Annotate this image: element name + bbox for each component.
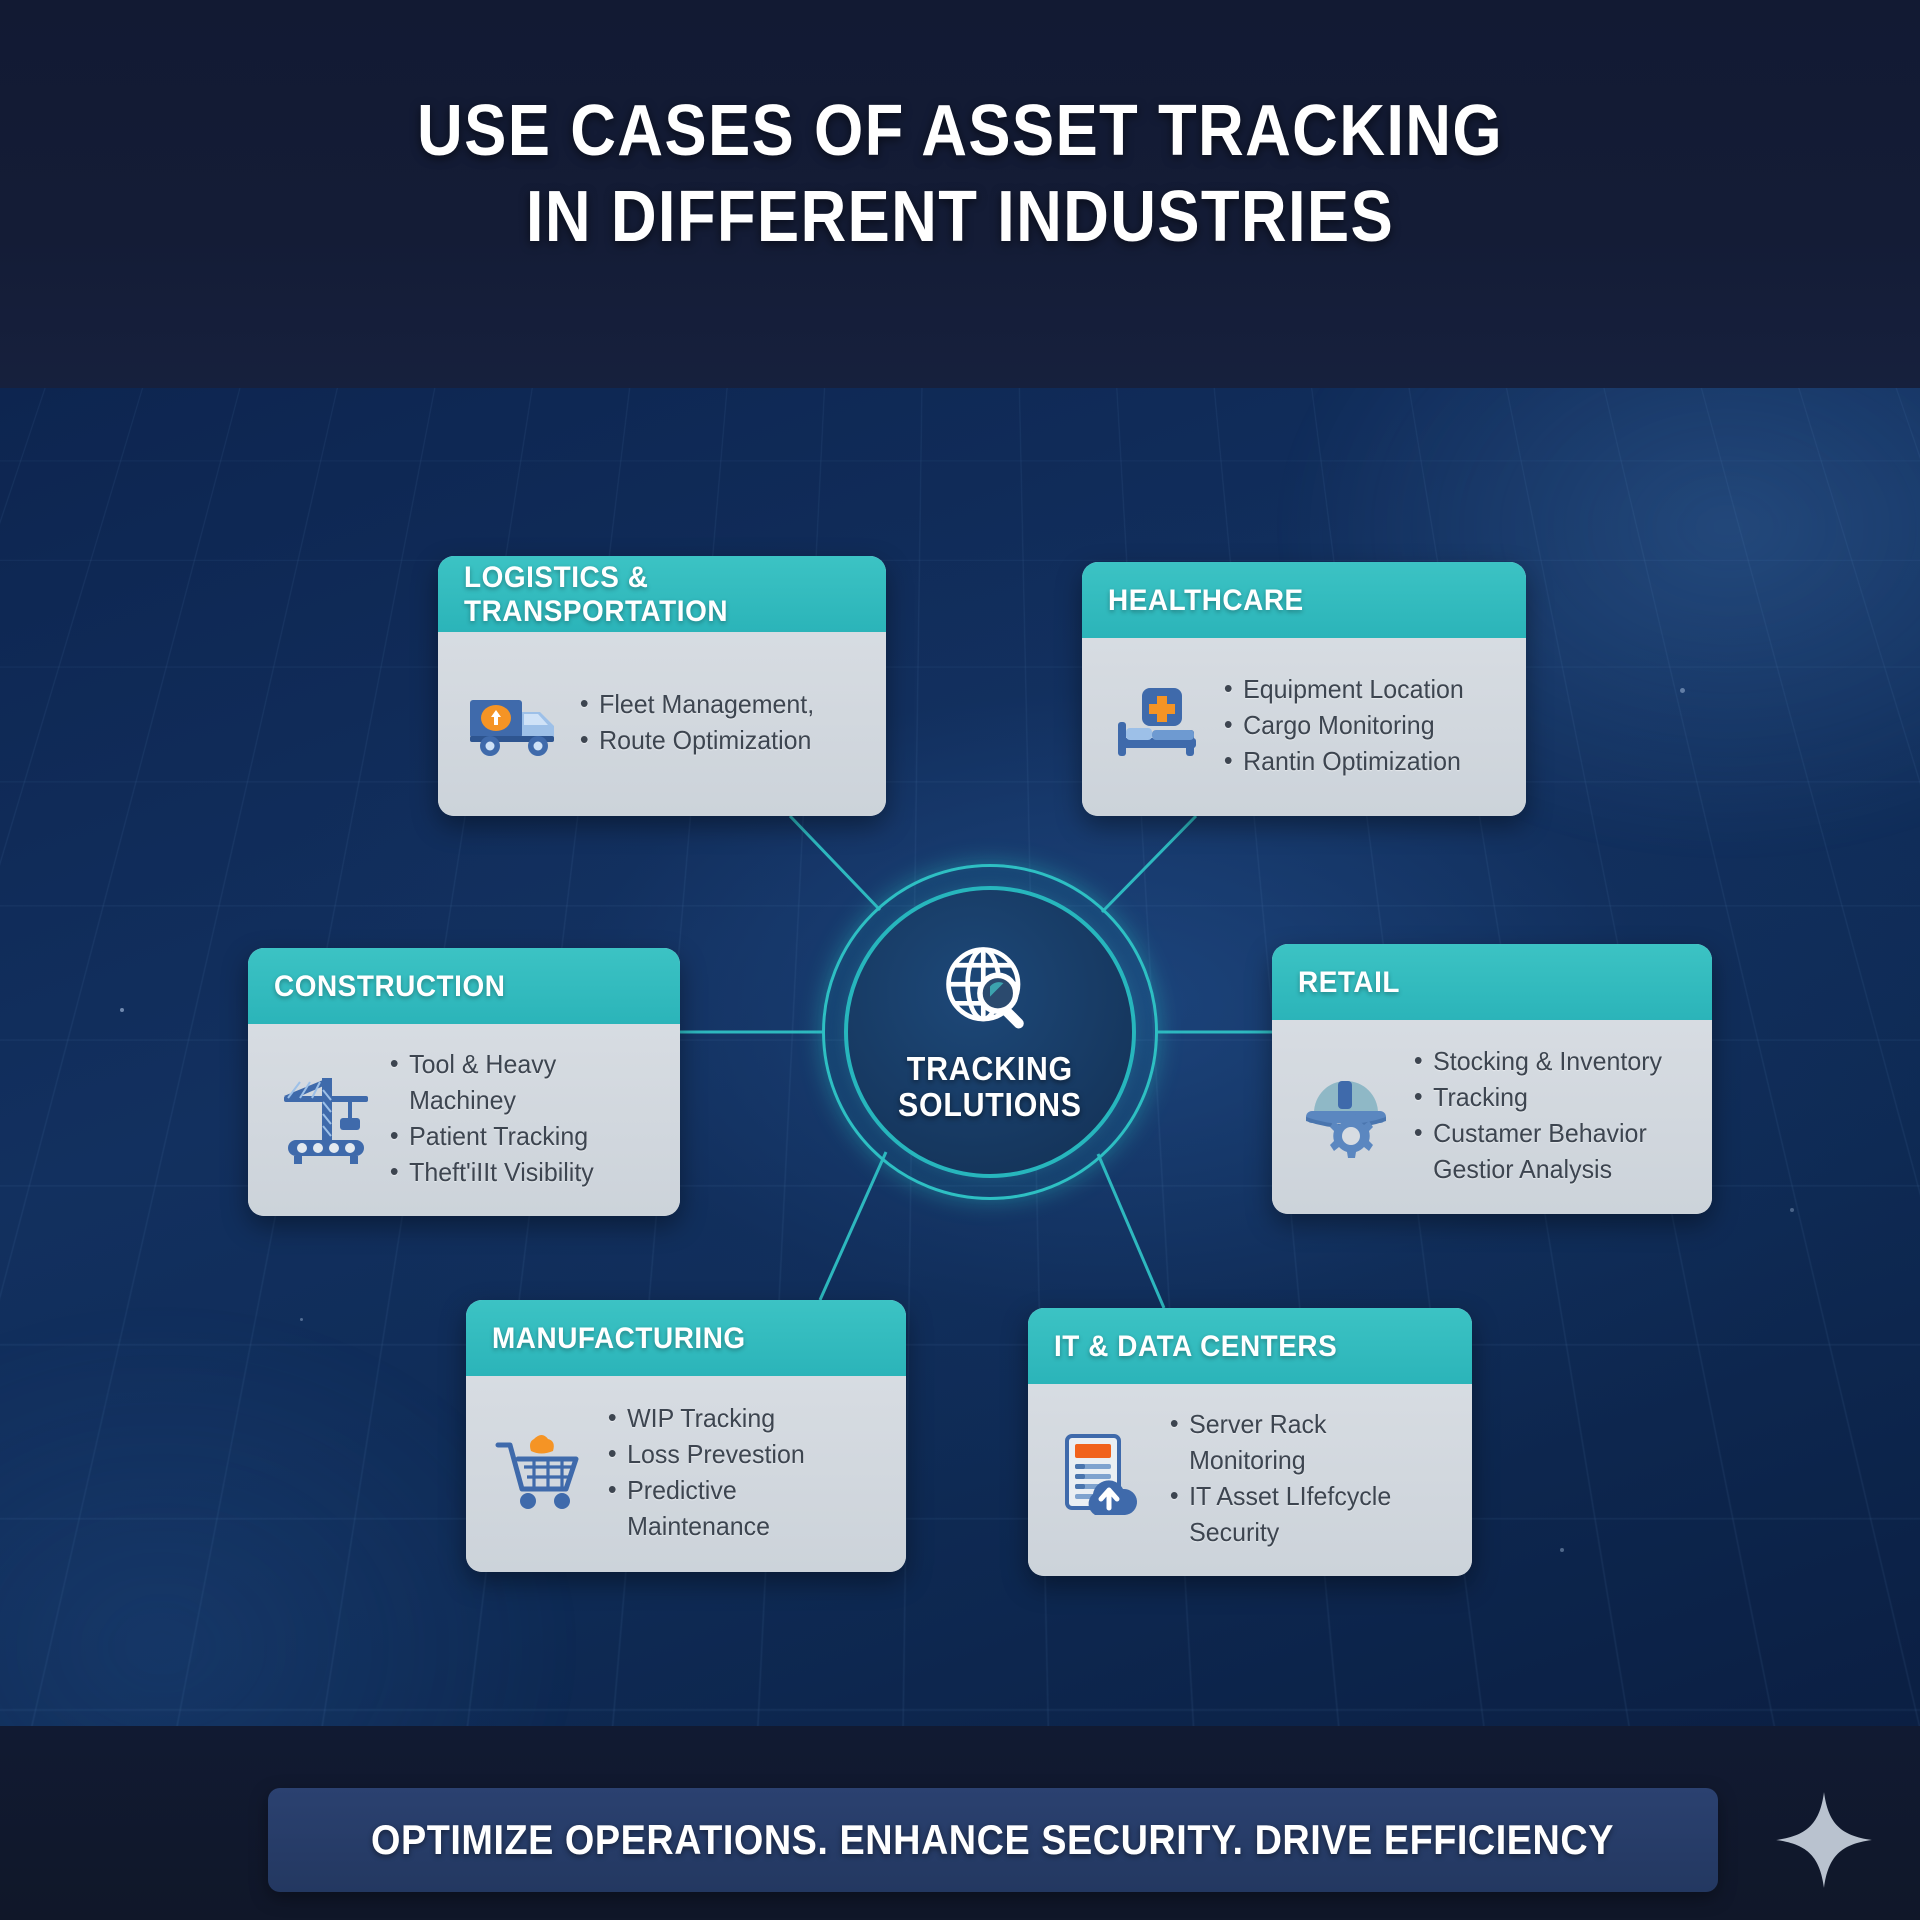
card-construction[interactable]: CONSTRUCTION [248, 948, 680, 1216]
list-item: Equipment Location [1222, 671, 1497, 707]
list-item: Gestior Analysis [1412, 1151, 1683, 1187]
card-retail[interactable]: RETAIL Stocking & Inventory Tracking [1272, 944, 1712, 1214]
list-item: Theft'iIIt Visibility [388, 1154, 651, 1190]
hub-label-line-1: TRACKING [898, 1051, 1082, 1087]
list-item: Tool & Heavy Machiney [388, 1046, 651, 1118]
infographic-stage: USE CASES OF ASSET TRACKING IN DIFFERENT… [0, 0, 1920, 1920]
background-speck [300, 1318, 303, 1321]
card-construction-header: CONSTRUCTION [248, 948, 680, 1024]
card-itdata-title: IT & DATA CENTERS [1054, 1330, 1337, 1364]
card-manufacturing-title: MANUFACTURING [492, 1322, 746, 1356]
hub-content: TRACKING SOLUTIONS [844, 886, 1136, 1178]
list-item: Security [1168, 1514, 1443, 1550]
background-speck [1560, 1548, 1564, 1552]
footer-tagline-pill: OPTIMIZE OPERATIONS. ENHANCE SECURITY. D… [268, 1788, 1718, 1892]
card-retail-bullets: Stocking & Inventory Tracking Custamer B… [1412, 1043, 1694, 1187]
delivery-truck-icon [464, 686, 568, 758]
list-item: Loss Prevestion [606, 1436, 877, 1472]
card-healthcare[interactable]: HEALTHCARE Equipment Location Cargo Moni… [1082, 562, 1526, 816]
card-manufacturing-header: MANUFACTURING [466, 1300, 906, 1376]
card-construction-body: Tool & Heavy Machiney Patient Tracking T… [248, 1024, 680, 1216]
list-item: Route Optimization [578, 722, 856, 758]
card-logistics[interactable]: LOGISTICS & TRANSPORTATION Fleet Managem… [438, 556, 886, 816]
title-line-1: USE CASES OF ASSET TRACKING [115, 88, 1805, 174]
shopping-cart-icon [492, 1429, 596, 1515]
list-item: Server Rack Monitoring [1168, 1406, 1443, 1478]
list-item: Stocking & Inventory [1412, 1043, 1683, 1079]
server-cloud-icon [1054, 1432, 1158, 1524]
card-itdata-bullets: Server Rack Monitoring IT Asset LIfefcyc… [1168, 1406, 1454, 1550]
list-item: WIP Tracking [606, 1400, 877, 1436]
list-item: IT Asset LIfefcycle [1168, 1478, 1443, 1514]
list-item: Patient Tracking [388, 1118, 651, 1154]
list-item: Cargo Monitoring [1222, 707, 1497, 743]
title-line-2: IN DIFFERENT INDUSTRIES [115, 174, 1805, 260]
card-itdata[interactable]: IT & DATA CENTERS [1028, 1308, 1472, 1576]
card-healthcare-bullets: Equipment Location Cargo Monitoring Rant… [1222, 671, 1508, 779]
list-item: Custamer Behavior [1412, 1115, 1683, 1151]
sparkle-icon [1772, 1788, 1876, 1892]
hub-label: TRACKING SOLUTIONS [898, 1051, 1082, 1123]
background-speck [1790, 1208, 1794, 1212]
card-itdata-body: Server Rack Monitoring IT Asset LIfefcyc… [1028, 1384, 1472, 1576]
card-healthcare-body: Equipment Location Cargo Monitoring Rant… [1082, 638, 1526, 816]
card-retail-body: Stocking & Inventory Tracking Custamer B… [1272, 1020, 1712, 1214]
card-construction-bullets: Tool & Heavy Machiney Patient Tracking T… [388, 1046, 662, 1190]
card-logistics-body: Fleet Management, Route Optimization [438, 632, 886, 816]
card-retail-title: RETAIL [1298, 966, 1400, 1000]
globe-magnifier-icon [934, 935, 1046, 1047]
crane-icon [274, 1070, 378, 1166]
card-healthcare-title: HEALTHCARE [1108, 584, 1304, 618]
page-title: USE CASES OF ASSET TRACKING IN DIFFERENT… [0, 88, 1920, 260]
list-item: Predictive Maintenance [606, 1472, 877, 1544]
footer-tagline: OPTIMIZE OPERATIONS. ENHANCE SECURITY. D… [372, 1816, 1615, 1864]
list-item: Fleet Management, [578, 686, 856, 722]
card-manufacturing-body: WIP Tracking Loss Prevestion Predictive … [466, 1376, 906, 1572]
card-manufacturing-bullets: WIP Tracking Loss Prevestion Predictive … [606, 1400, 888, 1544]
card-construction-title: CONSTRUCTION [274, 970, 505, 1004]
background-speck [1680, 688, 1685, 693]
list-item: Rantin Optimization [1222, 743, 1497, 779]
hardhat-gear-icon [1298, 1069, 1402, 1161]
card-logistics-bullets: Fleet Management, Route Optimization [578, 686, 868, 758]
hub-label-line-2: SOLUTIONS [898, 1087, 1082, 1123]
card-healthcare-header: HEALTHCARE [1082, 562, 1526, 638]
card-itdata-header: IT & DATA CENTERS [1028, 1308, 1472, 1384]
card-logistics-title: LOGISTICS & TRANSPORTATION [464, 561, 856, 629]
card-logistics-header: LOGISTICS & TRANSPORTATION [438, 556, 886, 632]
list-item: Tracking [1412, 1079, 1683, 1115]
center-hub: TRACKING SOLUTIONS [822, 864, 1158, 1200]
hospital-bed-icon [1108, 686, 1212, 764]
background-speck [120, 1008, 124, 1012]
card-retail-header: RETAIL [1272, 944, 1712, 1020]
card-manufacturing[interactable]: MANUFACTURING WIP Tracking [466, 1300, 906, 1572]
